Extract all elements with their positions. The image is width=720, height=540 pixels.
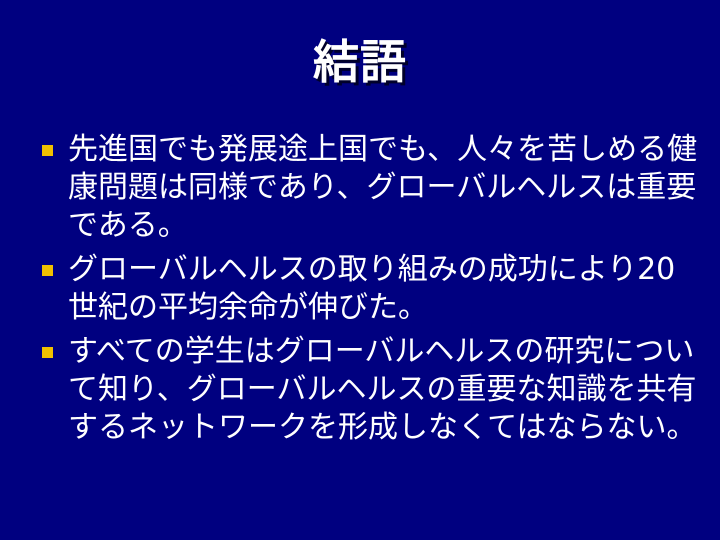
- square-bullet-icon: [42, 265, 53, 276]
- bullet-text: すべての学生はグローバルヘルスの研究について知り、グローバルヘルスの重要な知識を…: [68, 333, 698, 447]
- bullet-text: 先進国でも発展途上国でも、人々を苦しめる健康問題は同様であり、グローバルヘルスは…: [68, 131, 698, 245]
- square-bullet-icon: [42, 347, 53, 358]
- list-item: グローバルヘルスの取り組みの成功により20世紀の平均余命が伸びた。: [38, 251, 698, 327]
- list-item: すべての学生はグローバルヘルスの研究について知り、グローバルヘルスの重要な知識を…: [38, 333, 698, 447]
- square-bullet-icon: [42, 145, 53, 156]
- bullet-list: 先進国でも発展途上国でも、人々を苦しめる健康問題は同様であり、グローバルヘルスは…: [38, 131, 698, 447]
- slide-title: 結語: [0, 34, 720, 90]
- bullet-text: グローバルヘルスの取り組みの成功により20世紀の平均余命が伸びた。: [68, 251, 698, 327]
- presentation-slide: 結語 先進国でも発展途上国でも、人々を苦しめる健康問題は同様であり、グローバルヘ…: [0, 0, 720, 540]
- list-item: 先進国でも発展途上国でも、人々を苦しめる健康問題は同様であり、グローバルヘルスは…: [38, 131, 698, 245]
